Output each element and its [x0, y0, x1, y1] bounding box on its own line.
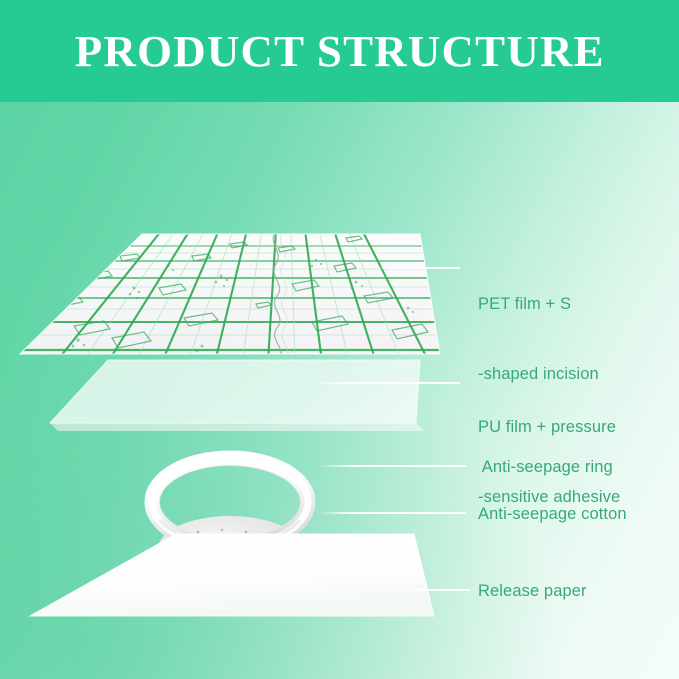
leader-line-pet-film	[376, 267, 460, 269]
leader-line-anti-seepage-cotton	[318, 512, 466, 514]
leader-line-release-paper	[408, 589, 470, 591]
page-title: PRODUCT STRUCTURE	[75, 30, 605, 74]
leader-line-anti-seepage-ring	[318, 465, 466, 467]
label-release-paper: Release paper	[478, 580, 587, 603]
label-pu-film-line1: PU film + pressure	[478, 416, 620, 439]
leader-line-pu-film	[312, 382, 460, 384]
label-pet-film-line1: PET film + S	[478, 293, 599, 316]
layer-pet-film	[16, 230, 440, 362]
layer-release-paper	[24, 530, 444, 624]
label-anti-seepage-ring: Anti-seepage ring	[478, 456, 613, 479]
header-band: PRODUCT STRUCTURE	[0, 0, 679, 102]
perforated-grid-sheet-icon	[16, 230, 440, 362]
diagram-stage: PET film + S -shaped incision PU film + …	[0, 102, 679, 679]
product-structure-infographic: PRODUCT STRUCTURE	[0, 0, 679, 679]
white-sheet-icon	[24, 530, 444, 624]
label-anti-seepage-cotton: Anti-seepage cotton	[478, 503, 627, 526]
